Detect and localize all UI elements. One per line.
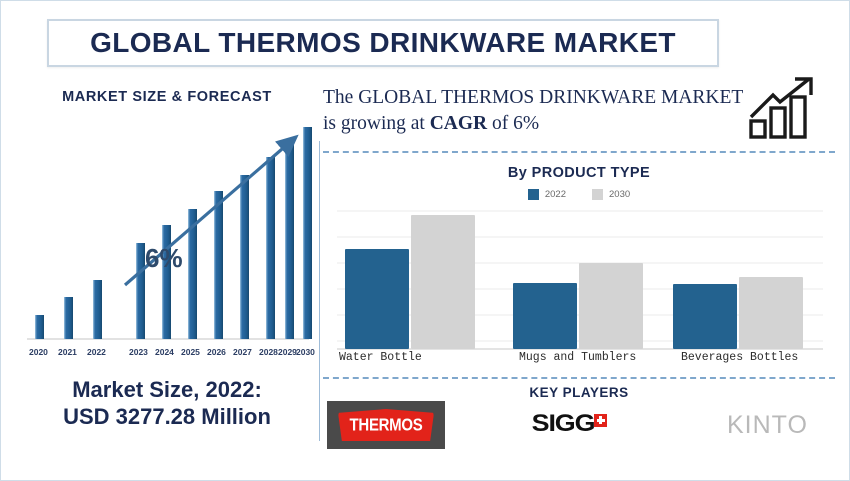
year-label-2026: 2026 [207, 347, 226, 357]
bar-2029 [285, 141, 294, 339]
year-label-2023: 2023 [129, 347, 148, 357]
by-product-type-heading: By PRODUCT TYPE [323, 165, 835, 181]
bar-2028 [266, 157, 275, 339]
bar-beverages-bottles-2030 [739, 277, 803, 349]
market-size-callout: Market Size, 2022: USD 3277.28 Million [17, 377, 317, 431]
market-size-forecast-panel: MARKET SIZE & FORECAST [17, 81, 317, 453]
legend-swatch-2030 [592, 189, 603, 200]
bar-2022 [93, 280, 102, 339]
bar-2023 [136, 243, 145, 339]
sigg-logo-text: SIGG [532, 410, 595, 438]
year-label-2025: 2025 [181, 347, 200, 357]
vertical-divider [319, 141, 320, 441]
divider-above-product-type [323, 151, 835, 153]
bar-2027 [240, 175, 249, 339]
market-size-forecast-heading: MARKET SIZE & FORECAST [17, 89, 317, 105]
bar-water-bottle-2030 [411, 215, 475, 349]
page-title-box: GLOBAL THERMOS DRINKWARE MARKET [47, 19, 719, 67]
bar-2021 [64, 297, 73, 339]
year-label-2021: 2021 [58, 347, 77, 357]
legend-swatch-2022 [528, 189, 539, 200]
thermos-shield-shape: THERMOS [338, 409, 434, 441]
sigg-logo: SIGG [535, 410, 607, 438]
market-size-line-2: USD 3277.28 Million [17, 404, 317, 431]
thermos-logo-text: THERMOS [350, 415, 423, 435]
cagr-badge-left: 6% [145, 243, 183, 274]
infographic-canvas: GLOBAL THERMOS DRINKWARE MARKET MARKET S… [0, 0, 850, 481]
divider-above-key-players [323, 377, 835, 379]
page-title: GLOBAL THERMOS DRINKWARE MARKET [90, 27, 676, 59]
year-label-2024: 2024 [155, 347, 174, 357]
year-label-2022: 2022 [87, 347, 106, 357]
legend-item-2022: 2022 [528, 189, 566, 200]
category-label-mugs-and-tumblers: Mugs and Tumblers [519, 351, 636, 364]
cagr-statement-emphasis: CAGR [430, 113, 487, 134]
bar-mugs-and-tumblers-2022 [513, 283, 577, 349]
year-label-2029: 2029 [278, 347, 297, 357]
market-size-line-1: Market Size, 2022: [17, 377, 317, 404]
cagr-statement: The GLOBAL THERMOS DRINKWARE MARKET is g… [323, 85, 743, 138]
by-product-type-chart [323, 203, 835, 375]
bar-chart-growth-icon [747, 75, 821, 141]
legend-label-2030: 2030 [609, 189, 630, 200]
category-label-water-bottle: Water Bottle [339, 351, 422, 364]
year-label-2030: 2030 [296, 347, 315, 357]
kinto-logo-text: KINTO [727, 411, 808, 439]
swiss-cross-icon [594, 414, 607, 427]
legend-label-2022: 2022 [545, 189, 566, 200]
year-label-2020: 2020 [29, 347, 48, 357]
key-players-logos: THERMOS SIGG KINTO [323, 401, 835, 453]
thermos-logo: THERMOS [327, 401, 445, 449]
bar-2030 [303, 127, 312, 339]
product-type-legend: 2022 2030 [323, 189, 835, 200]
bar-beverages-bottles-2022 [673, 284, 737, 349]
cagr-statement-suffix: of 6% [487, 113, 539, 134]
bar-2026 [214, 191, 223, 339]
bar-water-bottle-2022 [345, 249, 409, 349]
year-label-2027: 2027 [233, 347, 252, 357]
kinto-logo: KINTO [727, 411, 808, 440]
product-type-axis-labels: Water Bottle Mugs and Tumblers Beverages… [323, 351, 835, 369]
legend-item-2030: 2030 [592, 189, 630, 200]
bar-2020 [35, 315, 44, 339]
year-label-2028: 2028 [259, 347, 278, 357]
key-players-heading: KEY PLAYERS [323, 385, 835, 400]
year-axis-labels: 2020 2021 2022 2023 2024 2025 2026 2027 … [17, 347, 317, 361]
bar-mugs-and-tumblers-2030 [579, 263, 643, 349]
category-label-beverages-bottles: Beverages Bottles [681, 351, 798, 364]
